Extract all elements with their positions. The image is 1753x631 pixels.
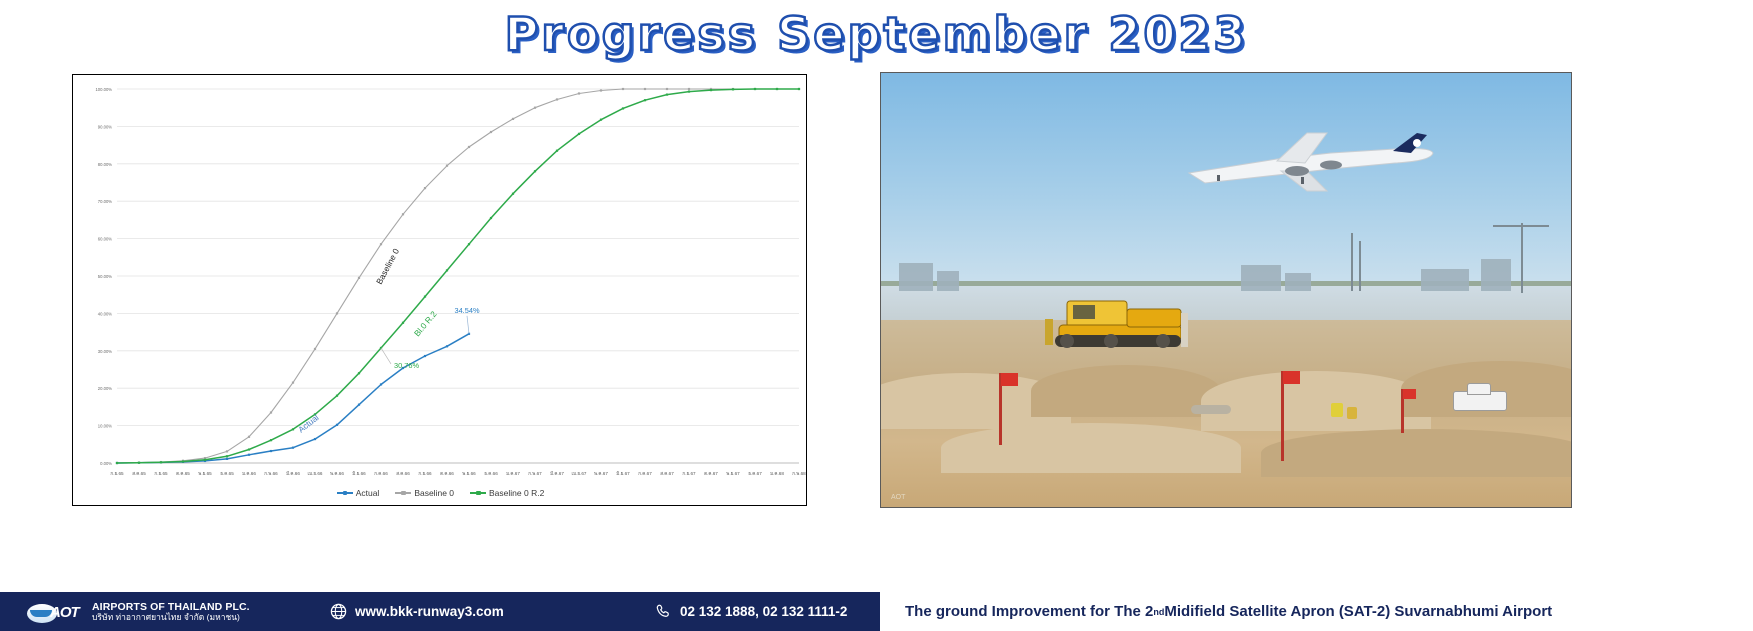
series-point: [754, 88, 756, 90]
legend-marker-actual: [337, 489, 353, 497]
x-axis-tick-label: ม.ค.68: [770, 471, 784, 476]
x-axis-tick-label: พ.ย.65: [198, 471, 212, 476]
aot-logo-icon: AOT: [26, 599, 86, 625]
series-point: [402, 322, 404, 324]
page-header: Progress September 2023: [0, 0, 1753, 68]
x-axis-tick-label: ก.ค.67: [638, 471, 652, 476]
series-point: [380, 383, 382, 385]
series-point: [666, 88, 668, 90]
x-axis-tick-label: เม.ย.66: [308, 471, 323, 476]
photo-pylon: [1359, 241, 1361, 291]
x-axis-tick-label: ม.ค.66: [242, 471, 256, 476]
footer-telephone-text: 02 132 1888, 02 132 1111-2: [680, 604, 847, 619]
series-point: [644, 88, 646, 90]
x-axis-tick-label: ส.ค.66: [396, 471, 410, 476]
x-axis-tick-label: มี.ค.66: [286, 470, 300, 476]
photo-building: [1285, 273, 1311, 291]
x-axis-tick-label: พ.ย.67: [726, 471, 740, 476]
series-point: [512, 193, 514, 195]
photo-building: [1481, 259, 1511, 291]
page-title: Progress September 2023: [505, 7, 1249, 61]
globe-icon: [330, 603, 347, 620]
site-pipe: [1191, 405, 1231, 414]
footer-org-name-en: AIRPORTS OF THAILAND PLC.: [92, 601, 250, 613]
x-axis-tick-label: ก.ค.66: [374, 471, 388, 476]
truck-cab: [1467, 383, 1491, 395]
photo-building: [1241, 265, 1281, 291]
series-point: [182, 460, 184, 462]
x-axis-tick-label: เม.ย.67: [572, 471, 587, 476]
series-point: [402, 213, 404, 215]
x-axis-tick-label: ต.ค.65: [176, 471, 190, 476]
footer-contact-bar: AOT AIRPORTS OF THAILAND PLC. บริษัท ท่า…: [0, 592, 880, 631]
photo-pylon: [1351, 233, 1353, 291]
series-point: [622, 88, 624, 90]
y-axis-tick-label: 70.00%: [98, 199, 112, 204]
legend-item-baseline0[interactable]: Baseline 0: [395, 488, 454, 498]
x-axis-tick-label: ธ.ค.66: [484, 471, 498, 476]
project-caption: The ground Improvement for The 2nd Midif…: [905, 592, 1745, 631]
photo-crane-arm: [1493, 225, 1549, 227]
series-point: [380, 243, 382, 245]
y-axis-tick-label: 60.00%: [98, 237, 112, 242]
series-point: [292, 447, 294, 449]
construction-site-photo: AOT: [880, 72, 1572, 508]
series-point: [270, 411, 272, 413]
legend-label-baseline0r2: Baseline 0 R.2: [489, 488, 544, 498]
series-point: [336, 312, 338, 314]
photo-crane: [1521, 223, 1523, 293]
series-line-actual: [117, 334, 469, 463]
legend-label-actual: Actual: [356, 488, 380, 498]
series-point: [776, 88, 778, 90]
series-point: [116, 462, 118, 464]
series-point: [666, 94, 668, 96]
series-point: [336, 395, 338, 397]
x-axis-tick-label: ม.ค.67: [506, 471, 520, 476]
x-axis-tick-label: ธ.ค.67: [748, 471, 762, 476]
series-point: [468, 146, 470, 148]
y-axis-tick-label: 100.00%: [95, 87, 112, 92]
x-axis-tick-label: มี.ค.67: [550, 470, 564, 476]
series-point: [292, 428, 294, 430]
footer-telephone[interactable]: 02 132 1888, 02 132 1111-2: [655, 592, 847, 631]
y-axis-tick-label: 0.00%: [100, 461, 112, 466]
airplane-graphic: [1181, 131, 1441, 201]
chart-annotation: Baseline 0: [374, 246, 401, 286]
y-axis-tick-label: 80.00%: [98, 162, 112, 167]
marker-flag-pole: [1281, 371, 1284, 461]
series-point: [226, 455, 228, 457]
legend-item-actual[interactable]: Actual: [337, 488, 380, 498]
x-axis-tick-label: ก.พ.66: [264, 471, 278, 476]
phone-icon: [655, 603, 672, 620]
y-axis-tick-label: 90.00%: [98, 124, 112, 129]
series-point: [578, 92, 580, 94]
page-footer: AOT AIRPORTS OF THAILAND PLC. บริษัท ท่า…: [0, 592, 1753, 631]
series-point: [600, 89, 602, 91]
chart-legend: Actual Baseline 0 Baseline 0 R.2: [73, 485, 808, 501]
y-axis-tick-label: 50.00%: [98, 274, 112, 279]
x-axis-tick-label: มิ.ย.67: [616, 471, 630, 476]
aot-logo-wordmark: AOT: [50, 604, 79, 621]
y-axis-tick-label: 20.00%: [98, 386, 112, 391]
series-point: [446, 345, 448, 347]
photo-building: [1421, 269, 1469, 291]
series-point: [534, 170, 536, 172]
chart-plot-area: 0.00%10.00%20.00%30.00%40.00%50.00%60.00…: [73, 75, 808, 507]
x-axis-tick-label: พ.ค.66: [330, 471, 344, 476]
series-point: [710, 89, 712, 91]
x-axis-tick-label: พ.ค.67: [594, 471, 608, 476]
photo-building: [937, 271, 959, 291]
series-point: [358, 372, 360, 374]
x-axis-tick-label: ก.พ.68: [792, 471, 806, 476]
x-axis-tick-label: ส.ค.65: [132, 471, 146, 476]
series-point: [490, 217, 492, 219]
footer-website[interactable]: www.bkk-runway3.com: [330, 592, 504, 631]
series-point: [358, 404, 360, 406]
series-point: [732, 88, 734, 90]
series-point: [226, 458, 228, 460]
series-point: [644, 99, 646, 101]
x-axis-tick-label: ก.ย.65: [154, 471, 168, 476]
legend-marker-baseline0: [395, 489, 411, 497]
x-axis-tick-label: ส.ค.67: [660, 471, 674, 476]
caption-ordinal-suffix: nd: [1153, 607, 1164, 617]
photo-sand-dune: [941, 423, 1241, 473]
footer-website-text: www.bkk-runway3.com: [355, 604, 504, 619]
series-point: [798, 88, 800, 90]
series-point: [336, 424, 338, 426]
series-point: [248, 436, 250, 438]
series-point: [578, 133, 580, 135]
footer-org-block: AIRPORTS OF THAILAND PLC. บริษัท ท่าอากา…: [92, 601, 250, 623]
marker-flag: [1001, 373, 1018, 386]
series-point: [622, 107, 624, 109]
marker-flag: [1283, 371, 1300, 384]
x-axis-tick-label: ก.ย.65: [110, 471, 124, 476]
series-point: [292, 381, 294, 383]
y-axis-tick-label: 40.00%: [98, 311, 112, 316]
photo-credit: AOT: [891, 494, 905, 501]
x-axis-tick-label: พ.ย.66: [462, 471, 476, 476]
series-point: [204, 459, 206, 461]
bulldozer-graphic: [1041, 291, 1206, 353]
x-axis-tick-label: ก.ย.66: [418, 471, 432, 476]
series-point: [490, 131, 492, 133]
site-drum: [1347, 407, 1357, 419]
series-point: [446, 165, 448, 167]
photo-sand-dune: [1201, 371, 1431, 431]
series-point: [248, 454, 250, 456]
photo-sand-dune: [1261, 429, 1572, 477]
data-label-actual: 34.54%: [454, 306, 479, 315]
site-drum: [1331, 403, 1343, 417]
x-axis-tick-label: ก.ย.67: [682, 471, 696, 476]
series-point: [688, 91, 690, 93]
photo-building: [899, 263, 933, 291]
chart-annotation: Actual: [296, 412, 321, 434]
caption-part2: Midifield Satellite Apron (SAT-2) Suvarn…: [1164, 603, 1552, 620]
series-point: [270, 439, 272, 441]
series-point: [534, 107, 536, 109]
series-point: [556, 98, 558, 100]
series-point: [160, 461, 162, 463]
series-point: [248, 448, 250, 450]
series-point: [600, 119, 602, 121]
series-point: [138, 462, 140, 464]
y-axis-tick-label: 30.00%: [98, 349, 112, 354]
x-axis-tick-label: มิ.ย.66: [352, 471, 366, 476]
series-point: [314, 348, 316, 350]
series-point: [446, 269, 448, 271]
series-point: [314, 438, 316, 440]
series-point: [358, 277, 360, 279]
series-point: [556, 150, 558, 152]
footer-org-name-th: บริษัท ท่าอากาศยานไทย จำกัด (มหาชน): [92, 613, 250, 623]
legend-item-baseline0r2[interactable]: Baseline 0 R.2: [470, 488, 544, 498]
series-point: [226, 450, 228, 452]
series-point: [424, 355, 426, 357]
series-point: [688, 88, 690, 90]
data-label-baseline0r2: 30.76%: [394, 361, 419, 370]
progress-line-chart: 0.00%10.00%20.00%30.00%40.00%50.00%60.00…: [73, 75, 808, 507]
series-point: [424, 295, 426, 297]
marker-flag: [1403, 389, 1416, 399]
series-point: [512, 118, 514, 120]
progress-chart-panel: 0.00%10.00%20.00%30.00%40.00%50.00%60.00…: [72, 74, 807, 506]
series-point: [270, 450, 272, 452]
caption-part1: The ground Improvement for The 2: [905, 603, 1153, 620]
legend-marker-baseline0r2: [470, 489, 486, 497]
legend-label-baseline0: Baseline 0: [414, 488, 454, 498]
x-axis-tick-label: ต.ค.66: [440, 471, 454, 476]
x-axis-tick-label: ต.ค.67: [704, 471, 718, 476]
series-point: [424, 187, 426, 189]
y-axis-tick-label: 10.00%: [98, 424, 112, 429]
series-point: [468, 243, 470, 245]
x-axis-tick-label: ธ.ค.65: [220, 471, 234, 476]
x-axis-tick-label: ก.พ.67: [528, 471, 542, 476]
